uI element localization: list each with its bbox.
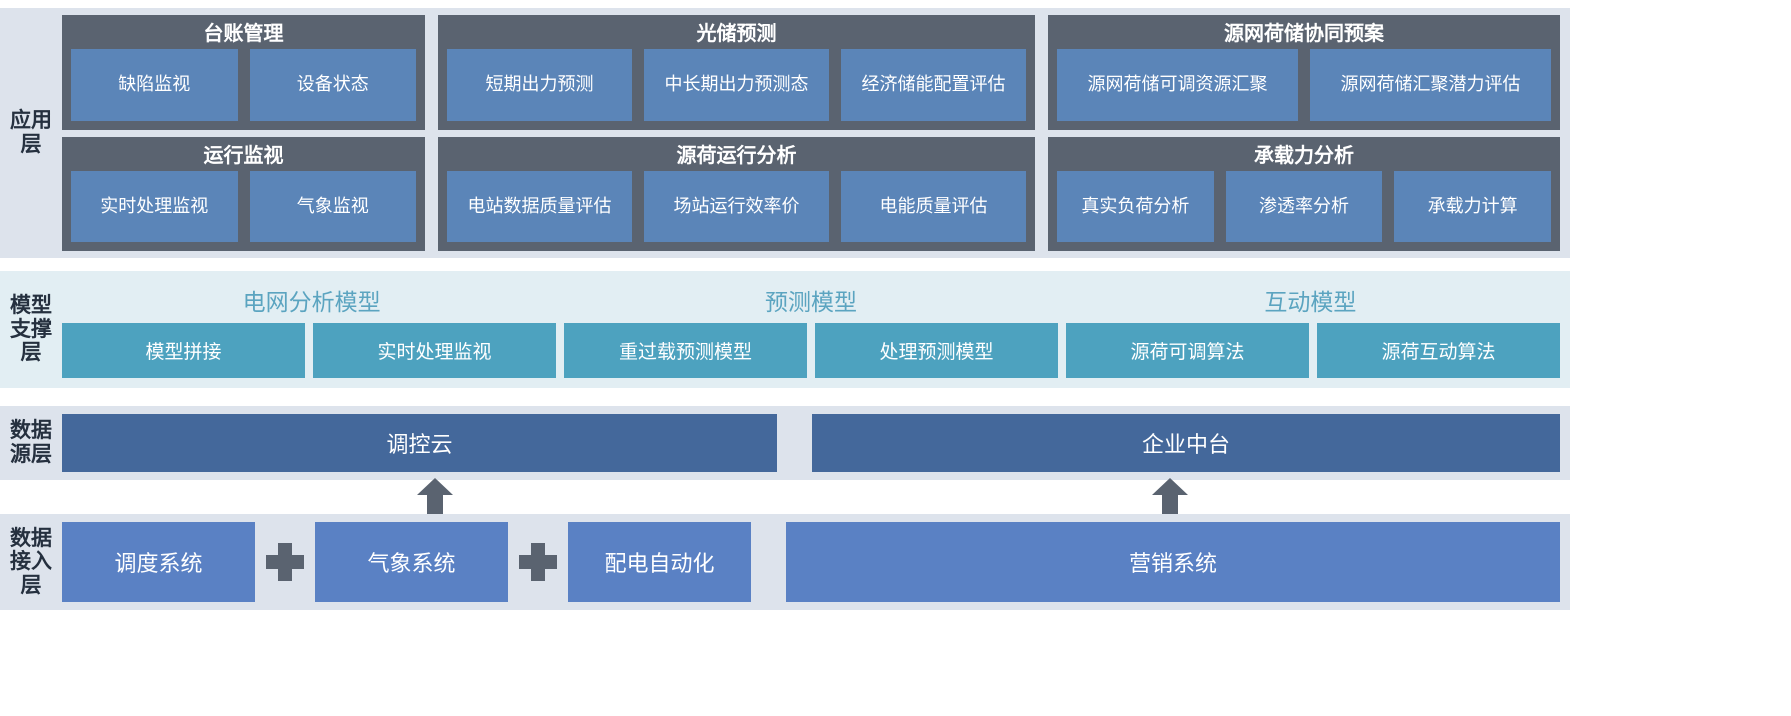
data-access-layer-label: 数据接入层: [0, 514, 62, 610]
app-panel-items: 短期出力预测 中长期出力预测态 经济储能配置评估: [447, 49, 1026, 121]
application-layer-grid: 台账管理 缺陷监视 设备状态 光储预测 短期出力预测 中长期出力预测态 经济储能…: [62, 8, 1570, 258]
app-panel-chengzailifenxi[interactable]: 承载力分析 真实负荷分析 渗透率分析 承载力计算: [1048, 137, 1560, 252]
plus-icon: [266, 543, 304, 581]
app-item-qixiangjianshi[interactable]: 气象监视: [250, 171, 417, 243]
app-panel-items: 缺陷监视 设备状态: [71, 49, 416, 121]
app-panel-items: 电站数据质量评估 场站运行效率价 电能质量评估: [447, 171, 1026, 243]
app-item-ketiaoziyuanhuiju[interactable]: 源网荷储可调资源汇聚: [1057, 49, 1298, 121]
app-panel-title: 运行监视: [204, 141, 284, 171]
app-panel-yuanwanghechuxietongyuan[interactable]: 源网荷储协同预案 源网荷储可调资源汇聚 源网荷储汇聚潜力评估: [1048, 15, 1560, 130]
app-item-zhenshifuhefenxi[interactable]: 真实负荷分析: [1057, 171, 1214, 243]
model-box-shishichulijianshi[interactable]: 实时处理监视: [313, 323, 556, 378]
data-access-box-peidianzidonghua[interactable]: 配电自动化: [568, 522, 751, 602]
app-item-shishichulijianshi[interactable]: 实时处理监视: [71, 171, 238, 243]
app-panel-title: 源网荷储协同预案: [1224, 19, 1384, 49]
plus-separator-2: [508, 522, 568, 602]
app-item-changzhanyunxingxiaolvjia[interactable]: 场站运行效率价: [644, 171, 829, 243]
data-access-box-diaoduxitong[interactable]: 调度系统: [62, 522, 255, 602]
data-access-box-qixiangxitong[interactable]: 气象系统: [315, 522, 508, 602]
app-item-chengzailijisuan[interactable]: 承载力计算: [1394, 171, 1551, 243]
data-source-box-diaokongyun[interactable]: 调控云: [62, 414, 777, 472]
data-source-layer-band: 数据源层 调控云 企业中台: [0, 406, 1570, 480]
data-access-body: 调度系统 气象系统 配电自动化 营销系统: [62, 514, 1570, 610]
app-item-shentoulvfenxi[interactable]: 渗透率分析: [1226, 171, 1383, 243]
arrow-up-icon: [415, 478, 455, 516]
model-box-moxingpinjie[interactable]: 模型拼接: [62, 323, 305, 378]
model-category-dianwangfenximoxing: 电网分析模型: [62, 277, 561, 323]
app-panel-yunxingjianshi[interactable]: 运行监视 实时处理监视 气象监视: [62, 137, 425, 252]
application-row-2: 运行监视 实时处理监视 气象监视 源荷运行分析 电站数据质量评估 场站运行效率价…: [62, 137, 1560, 252]
plus-separator-1: [255, 522, 315, 602]
application-layer-label: 应用层: [0, 8, 62, 258]
app-item-zhongchangqichuliyuce[interactable]: 中长期出力预测态: [644, 49, 829, 121]
model-category-yucemoxing: 预测模型: [561, 277, 1060, 323]
model-category-hudongmoxing: 互动模型: [1061, 277, 1560, 323]
model-support-body: 电网分析模型 预测模型 互动模型 模型拼接 实时处理监视 重过载预测模型 处理预…: [62, 271, 1570, 388]
app-panel-title: 承载力分析: [1254, 141, 1354, 171]
model-support-layer-label: 模型支撑层: [0, 271, 62, 388]
app-item-jingjichunengpeizhipinggu[interactable]: 经济储能配置评估: [841, 49, 1026, 121]
app-panel-taizhangguanli[interactable]: 台账管理 缺陷监视 设备状态: [62, 15, 425, 130]
data-access-box-yingxiaoxitong[interactable]: 营销系统: [786, 522, 1560, 602]
app-panel-title: 源荷运行分析: [677, 141, 797, 171]
model-category-row: 电网分析模型 预测模型 互动模型: [62, 277, 1560, 323]
model-box-zhongguozaiyucemoxing[interactable]: 重过载预测模型: [564, 323, 807, 378]
arrow-up-icon: [1150, 478, 1190, 516]
model-box-yuanhehudongsuanfa[interactable]: 源荷互动算法: [1317, 323, 1560, 378]
architecture-diagram: 应用层 台账管理 缺陷监视 设备状态 光储预测 短期出力预测 中长期出力预测态: [0, 0, 1791, 716]
app-panel-title: 光储预测: [697, 19, 777, 49]
data-access-layer-band: 数据接入层 调度系统 气象系统 配电自动化 营销系统: [0, 514, 1570, 610]
data-source-body: 调控云 企业中台: [62, 406, 1570, 480]
model-box-chuliyucemoxing[interactable]: 处理预测模型: [815, 323, 1058, 378]
model-box-row: 模型拼接 实时处理监视 重过载预测模型 处理预测模型 源荷可调算法 源荷互动算法: [62, 323, 1560, 378]
app-panel-items: 源网荷储可调资源汇聚 源网荷储汇聚潜力评估: [1057, 49, 1551, 121]
app-item-dianzhanshujuzhiliangpinggu[interactable]: 电站数据质量评估: [447, 171, 632, 243]
application-row-1: 台账管理 缺陷监视 设备状态 光储预测 短期出力预测 中长期出力预测态 经济储能…: [62, 15, 1560, 130]
application-layer-band: 应用层 台账管理 缺陷监视 设备状态 光储预测 短期出力预测 中长期出力预测态: [0, 8, 1570, 258]
app-panel-items: 真实负荷分析 渗透率分析 承载力计算: [1057, 171, 1551, 243]
model-box-yuanheketiaosuanfa[interactable]: 源荷可调算法: [1066, 323, 1309, 378]
app-panel-guangchuyuce[interactable]: 光储预测 短期出力预测 中长期出力预测态 经济储能配置评估: [438, 15, 1035, 130]
app-panel-title: 台账管理: [204, 19, 284, 49]
app-panel-items: 实时处理监视 气象监视: [71, 171, 416, 243]
app-item-huijuqianlipinggu[interactable]: 源网荷储汇聚潜力评估: [1310, 49, 1551, 121]
app-item-shebeizhuangtai[interactable]: 设备状态: [250, 49, 417, 121]
app-panel-yuanheyunxingfenxi[interactable]: 源荷运行分析 电站数据质量评估 场站运行效率价 电能质量评估: [438, 137, 1035, 252]
app-item-diannengzhiliangpinggu[interactable]: 电能质量评估: [841, 171, 1026, 243]
data-source-layer-label: 数据源层: [0, 406, 62, 480]
data-source-box-qiyezhongtai[interactable]: 企业中台: [812, 414, 1560, 472]
model-support-layer-band: 模型支撑层 电网分析模型 预测模型 互动模型 模型拼接 实时处理监视 重过载预测…: [0, 271, 1570, 388]
app-item-quexianjianshi[interactable]: 缺陷监视: [71, 49, 238, 121]
app-item-duanqichuliyuce[interactable]: 短期出力预测: [447, 49, 632, 121]
plus-icon: [519, 543, 557, 581]
